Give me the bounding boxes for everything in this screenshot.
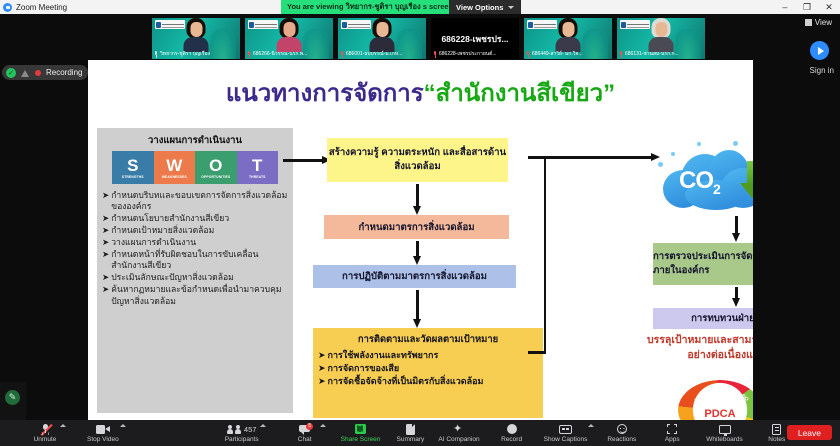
org-logo-icon	[248, 20, 278, 29]
show-captions-button[interactable]: Show Captions	[541, 420, 591, 446]
swot-letter: T	[252, 157, 262, 174]
participant-name: 686001-ธบบรรณ์-ม.เกห...	[346, 50, 402, 59]
swot-cell-opportunities: O OPPORTUNITIES	[195, 151, 237, 184]
pdca-label: PDCA	[678, 408, 753, 420]
window-controls: – ❐ ✕	[774, 0, 840, 14]
shield-check-icon: ✓	[6, 68, 16, 78]
record-label: Record	[501, 436, 522, 443]
co2-cloud-icon: CO2	[663, 150, 753, 212]
co2-label: CO2	[679, 167, 720, 197]
list-item: ➤การจัดชื้อจัดจ้างที่เป็นมิตรกับสิ่งแวดล…	[318, 375, 483, 388]
chat-bubble-icon: 5	[299, 424, 310, 435]
bullet-marker: ➤	[102, 284, 109, 307]
annotation-toolbar[interactable]: ✎	[0, 382, 26, 420]
list-item-text: ค้นหากฏหมายและข้อกำหนดเพื่อนำมาควบคุมปัญ…	[111, 284, 289, 307]
swot-word: WEAKNESSES	[162, 175, 187, 179]
measures-box: กำหนดมาตรการสิ่งแวดล้อม	[324, 215, 509, 239]
whiteboards-label: Whiteboards	[706, 436, 743, 443]
share-screen-label: Share Screen	[341, 436, 381, 443]
participant-tile-active-speaker[interactable]: 686228-เพชรปร... 686228-เพชรประกายนต์...	[431, 18, 519, 59]
summary-doc-icon	[406, 424, 415, 435]
avatar	[652, 18, 671, 52]
record-circle-icon	[507, 424, 517, 435]
swot-graphic: S STRENGTHS W WEAKNESSES O OPPORTUNITIES…	[112, 151, 278, 184]
slide-title-main: แนวทางการจัดการ	[226, 80, 424, 107]
list-item: ➤ประเมินลักษณะปัญหาสิ่งแวดล้อม	[102, 272, 289, 283]
tile-name-bar: 686266-นิวรรณ-นรก.พ...	[245, 50, 333, 59]
notes-icon	[772, 424, 781, 435]
tile-name-bar: 686131-ชานสม-นรก.ก...	[617, 50, 705, 59]
participant-name: 686449-สาวิย์- มก.วิจ...	[532, 50, 583, 59]
participant-tile[interactable]: 686266-นิวรรณ-นรก.พ...	[245, 18, 333, 59]
list-item-text: กำหนดบริบทและขอบเขตการจัดการสิ่งแวดล้อมข…	[111, 190, 289, 213]
planning-panel: วางแผนการดำเนินงาน S STRENGTHS W WEAKNES…	[97, 128, 293, 413]
participant-count: 457	[244, 425, 257, 434]
bullet-marker: ➤	[318, 362, 326, 375]
chat-button[interactable]: 5 Chat	[288, 420, 322, 446]
list-item: ➤กำหนดเป้าหมายสิ่งแวดล้อม	[102, 225, 289, 236]
chat-label: Chat	[298, 436, 312, 443]
tile-name-bar: วิทยากร-ชูติรา บุญเรือง	[152, 50, 240, 59]
reactions-emoji-icon	[617, 424, 627, 435]
microphone-muted-icon	[619, 51, 623, 58]
list-item: ➤กำหนดหน้าที่รับผิดชอบในการขับเคลื่อนสำน…	[102, 249, 289, 272]
flow-arrow-down	[735, 287, 738, 299]
apps-label: Apps	[665, 436, 680, 443]
list-item-text: การจัดการของเสีย	[328, 362, 400, 375]
microphone-muted-icon	[340, 51, 344, 58]
management-review-box: การทบทวนฝ่ายบริหาร	[653, 308, 753, 329]
flow-arrow-down	[416, 241, 419, 257]
swot-letter: S	[127, 157, 138, 174]
internal-audit-box: การตรวจประเมินการจัดการสิ่งแวดล้อมภายในอ…	[653, 243, 753, 285]
filmstrip-next-button[interactable]	[810, 41, 829, 60]
slide-title-highlight: “สำนักงานสีเขียว”	[424, 80, 615, 107]
closed-captions-icon	[559, 424, 572, 435]
swot-cell-threats: T THREATS	[237, 151, 279, 184]
chevron-up-icon[interactable]	[588, 424, 594, 427]
restore-button[interactable]: ❐	[796, 0, 818, 14]
list-item: ➤การจัดการของเสีย	[318, 362, 399, 375]
bullet-marker: ➤	[102, 249, 109, 272]
swot-letter: O	[209, 157, 222, 174]
swot-cell-weaknesses: W WEAKNESSES	[154, 151, 196, 184]
zoom-logo-icon	[3, 3, 12, 12]
viewing-banner-text: You are viewing วิทยากร-ชูติรา บุญเรือง …	[287, 1, 453, 13]
planning-heading: วางแผนการดำเนินงาน	[97, 128, 293, 151]
leave-button[interactable]: Leave	[787, 425, 832, 440]
pdca-cycle-icon: PLAN DO PDCA	[678, 380, 753, 420]
awareness-box: สร้างความรู้ ความตระหนัก และสื่อสารด้านส…	[327, 138, 508, 182]
bullet-marker: ➤	[318, 349, 326, 362]
list-item-text: กำหนดหน้าที่รับผิดชอบในการขับเคลื่อนสำนั…	[111, 249, 289, 272]
record-button[interactable]: Record	[495, 420, 529, 446]
implementation-box: การปฏิบัติตามมาตรการสิ่งแวดล้อม	[313, 265, 516, 288]
list-item: ➤การใช้พลังงานและทรัพยากร	[318, 349, 438, 362]
list-item: ➤กำหนดนโยบายสำนักงานสีเขียว	[102, 213, 289, 224]
show-captions-label: Show Captions	[544, 436, 588, 443]
participant-name: 686131-ชานสม-นรก.ก...	[625, 50, 679, 59]
org-logo-icon	[341, 20, 371, 29]
flow-arrow-down	[416, 184, 419, 207]
bullet-marker: ➤	[102, 272, 109, 283]
recording-dot-icon	[35, 70, 41, 76]
summary-label: Summary	[397, 436, 425, 443]
flow-arrow-right	[283, 159, 323, 162]
whiteboards-button[interactable]: Whiteboards	[703, 420, 746, 446]
view-options-label: View Options	[456, 3, 503, 12]
close-button[interactable]: ✕	[818, 0, 840, 14]
list-item-text: กำหนดนโยบายสำนักงานสีเขียว	[111, 213, 229, 224]
reactions-button[interactable]: Reactions	[604, 420, 639, 446]
list-item-text: ประเมินลักษณะปัญหาสิ่งแวดล้อม	[111, 272, 234, 283]
page-title: แนวทางการจัดการ“สำนักงานสีเขียว”	[88, 73, 753, 112]
list-item-text: การจัดชื้อจัดจ้างที่เป็นมิตรกับสิ่งแวดล้…	[328, 375, 484, 388]
pencil-icon[interactable]: ✎	[5, 390, 20, 405]
org-logo-icon	[620, 20, 650, 29]
reactions-label: Reactions	[607, 436, 636, 443]
stop-video-button[interactable]: Stop Video	[84, 420, 122, 446]
microphone-muted-icon	[247, 51, 251, 58]
swot-cell-strengths: S STRENGTHS	[112, 151, 154, 184]
window-title: Zoom Meeting	[16, 3, 67, 12]
swot-word: STRENGTHS	[122, 175, 144, 179]
view-options-button[interactable]: View Options	[449, 0, 521, 14]
flow-arrow-down	[416, 290, 419, 320]
tile-name-bar: 686001-ธบบรรณ์-ม.เกห...	[338, 50, 426, 59]
chevron-right-icon	[818, 47, 824, 55]
video-camera-icon	[96, 424, 110, 435]
avatar	[559, 18, 578, 52]
flow-arrow-down	[735, 216, 738, 234]
list-item-text: กำหนดเป้าหมายสิ่งแวดล้อม	[111, 225, 214, 236]
share-screen-icon	[355, 424, 366, 435]
list-item: ➤วางแผนการดำเนินงาน	[102, 237, 289, 248]
participant-filmstrip: วิทยากร-ชูติรา บุญเรือง 686266-นิวรรณ-นร…	[0, 14, 840, 61]
viewing-screen-banner: You are viewing วิทยากร-ชูติรา บุญเรือง …	[281, 0, 459, 14]
participant-name: 686228-เพชรประกายนต์...	[439, 50, 497, 59]
tile-name-bar: 686228-เพชรประกายนต์...	[431, 50, 519, 59]
microphone-icon	[154, 51, 158, 58]
sign-in-button[interactable]: Sign in	[810, 66, 834, 75]
flow-arrow-to-cloud	[544, 156, 652, 159]
swot-letter: W	[166, 157, 182, 174]
stage-left-rail	[0, 61, 88, 420]
org-logo-icon	[155, 20, 185, 29]
flow-connector-bracket	[528, 156, 546, 353]
avatar	[187, 18, 206, 52]
flow-connector-bottom	[528, 351, 546, 354]
meeting-status-pill[interactable]: ✓ Recording	[2, 65, 88, 80]
monitoring-heading: การติดตามและวัดผลตามเป้าหมาย	[358, 332, 498, 347]
apps-grid-icon	[667, 424, 677, 435]
swot-word: OPPORTUNITIES	[201, 175, 230, 179]
bullet-marker: ➤	[102, 190, 109, 213]
chevron-up-icon[interactable]	[320, 424, 326, 427]
participants-label: Participants	[225, 436, 259, 443]
participants-icon: 457	[227, 424, 257, 435]
recording-label: Recording	[46, 68, 82, 77]
list-item-text: วางแผนการดำเนินงาน	[111, 237, 196, 248]
chevron-down-icon	[508, 6, 514, 9]
swot-word: THREATS	[249, 175, 265, 179]
network-signal-icon	[21, 68, 30, 77]
zoom-meeting-window: Zoom Meeting – ❐ ✕ You are viewing วิทยา…	[0, 0, 840, 446]
bullet-marker: ➤	[318, 375, 326, 388]
microphone-muted-icon	[41, 424, 50, 435]
participant-tile[interactable]: 686001-ธบบรรณ์-ม.เกห...	[338, 18, 426, 59]
list-item: ➤กำหนดบริบทและขอบเขตการจัดการสิ่งแวดล้อม…	[102, 190, 289, 213]
microphone-muted-icon	[433, 51, 437, 58]
view-button-label: View	[815, 18, 832, 27]
apps-button[interactable]: Apps	[655, 420, 689, 446]
unmute-button[interactable]: Unmute	[28, 420, 62, 446]
participant-name: 686266-นิวรรณ-นรก.พ...	[253, 50, 307, 59]
participant-tile[interactable]: 686449-สาวิย์- มก.วิจ...	[524, 18, 612, 59]
conclusion-text: บรรลุเป้าหมายและสามารถดำเนินการได้อย่างต…	[636, 333, 753, 363]
unmute-label: Unmute	[34, 436, 57, 443]
ai-companion-label: AI Companion	[438, 436, 479, 443]
participant-tile[interactable]: 686131-ชานสม-นรก.ก...	[617, 18, 705, 59]
grid-view-icon	[805, 19, 812, 26]
chat-unread-badge: 5	[306, 423, 313, 430]
share-screen-button[interactable]: Share Screen	[338, 420, 384, 446]
notes-label: Notes	[768, 436, 785, 443]
microphone-muted-icon	[526, 51, 530, 58]
avatar	[373, 18, 392, 52]
participants-button[interactable]: 457 Participants	[222, 420, 262, 446]
planning-bullet-list: ➤กำหนดบริบทและขอบเขตการจัดการสิ่งแวดล้อม…	[97, 189, 293, 307]
participant-name: วิทยากร-ชูติรา บุญเรือง	[160, 50, 210, 59]
bullet-marker: ➤	[102, 213, 109, 224]
tile-name-bar: 686449-สาวิย์- มก.วิจ...	[524, 50, 612, 59]
list-item: ➤ค้นหากฏหมายและข้อกำหนดเพื่อนำมาควบคุมปั…	[102, 284, 289, 307]
chevron-up-icon[interactable]	[120, 424, 126, 427]
ai-companion-button[interactable]: ✦ AI Companion	[435, 420, 482, 446]
list-item-text: การใช้พลังงานและทรัพยากร	[328, 349, 439, 362]
meeting-toolbar: Unmute Stop Video 457 Participants 5 Cha…	[0, 420, 840, 446]
stage-right-rail	[753, 61, 840, 420]
monitoring-box: การติดตามและวัดผลตามเป้าหมาย ➤การใช้พลัง…	[313, 328, 543, 418]
bullet-marker: ➤	[102, 225, 109, 236]
avatar	[280, 18, 299, 52]
org-logo-icon	[527, 20, 557, 29]
summary-button[interactable]: Summary	[393, 420, 427, 446]
whiteboard-icon	[719, 424, 731, 435]
participant-tile[interactable]: วิทยากร-ชูติรา บุญเรือง	[152, 18, 240, 59]
shared-slide: แนวทางการจัดการ“สำนักงานสีเขียว” วางแผนก…	[88, 60, 753, 420]
chevron-up-icon[interactable]	[60, 424, 66, 427]
view-layout-button[interactable]: View	[801, 16, 836, 29]
chevron-up-icon[interactable]	[260, 424, 266, 427]
stop-video-label: Stop Video	[87, 436, 119, 443]
bullet-marker: ➤	[102, 237, 109, 248]
ai-sparkle-icon: ✦	[453, 424, 465, 435]
minimize-button[interactable]: –	[774, 0, 796, 14]
